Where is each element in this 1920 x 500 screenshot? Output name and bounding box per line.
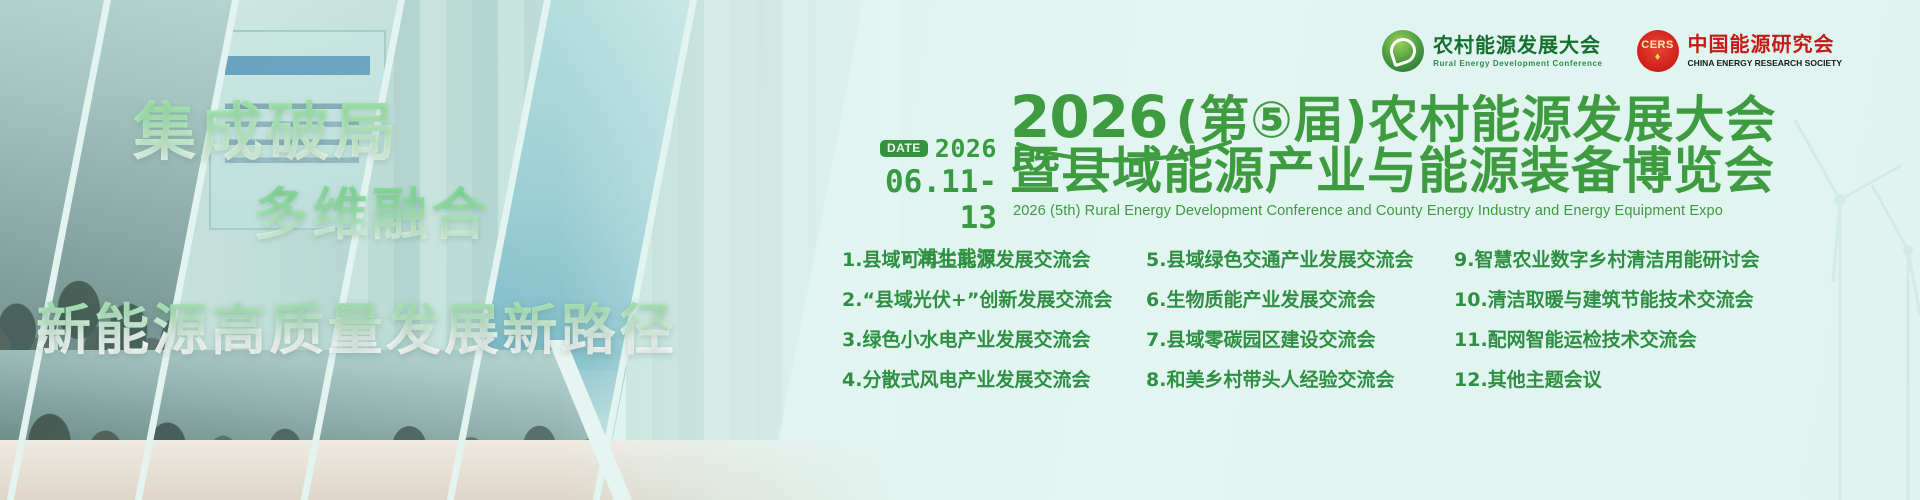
leaf-globe-icon (1382, 30, 1424, 72)
conference-banner: 集成破局 多维融合 新能源高质量发展新路径 (0, 0, 1920, 500)
date-year: 2026 (935, 136, 997, 161)
logo-rural-energy-en: Rural Energy Development Conference (1433, 59, 1602, 69)
topic-item[interactable]: 4.分散式风电产业发展交流会 (830, 360, 1138, 400)
topic-item[interactable]: 8.和美乡村带头人经验交流会 (1138, 360, 1446, 400)
topic-item[interactable]: 3.绿色小水电产业发展交流会 (830, 320, 1138, 360)
overlay-headline-2: 多维融合 (253, 170, 490, 251)
title-year: 2026 (1010, 88, 1167, 146)
wind-turbine-decoration (1590, 0, 1920, 500)
overlay-headline-3: 新能源高质量发展新路径 (36, 285, 677, 365)
topic-item[interactable]: 1.县域可再生能源发展交流会 (830, 240, 1138, 280)
turbine-svg (1590, 0, 1920, 500)
topic-item[interactable]: 7.县域零碳园区建设交流会 (1138, 320, 1446, 360)
overlay-headline-1: 集成破局 (133, 82, 400, 173)
topic-item[interactable]: 5.县域绿色交通产业发展交流会 (1138, 240, 1446, 280)
date-label: DATE (880, 140, 928, 157)
date-range: 06.11-13 (857, 165, 997, 236)
topics-column-1: 1.县域可再生能源发展交流会 2.“县域光伏+”创新发展交流会 3.绿色小水电产… (830, 240, 1138, 400)
topic-item[interactable]: 2.“县域光伏+”创新发展交流会 (830, 280, 1138, 320)
logo-rural-energy-cn: 农村能源发展大会 (1433, 34, 1602, 57)
topic-item[interactable]: 6.生物质能产业发展交流会 (1138, 280, 1446, 320)
banner-content: 农村能源发展大会 Rural Energy Development Confer… (830, 0, 1920, 500)
logo-rural-energy: 农村能源发展大会 Rural Energy Development Confer… (1382, 30, 1602, 72)
topics-column-2: 5.县域绿色交通产业发展交流会 6.生物质能产业发展交流会 7.县域零碳园区建设… (1138, 240, 1446, 400)
